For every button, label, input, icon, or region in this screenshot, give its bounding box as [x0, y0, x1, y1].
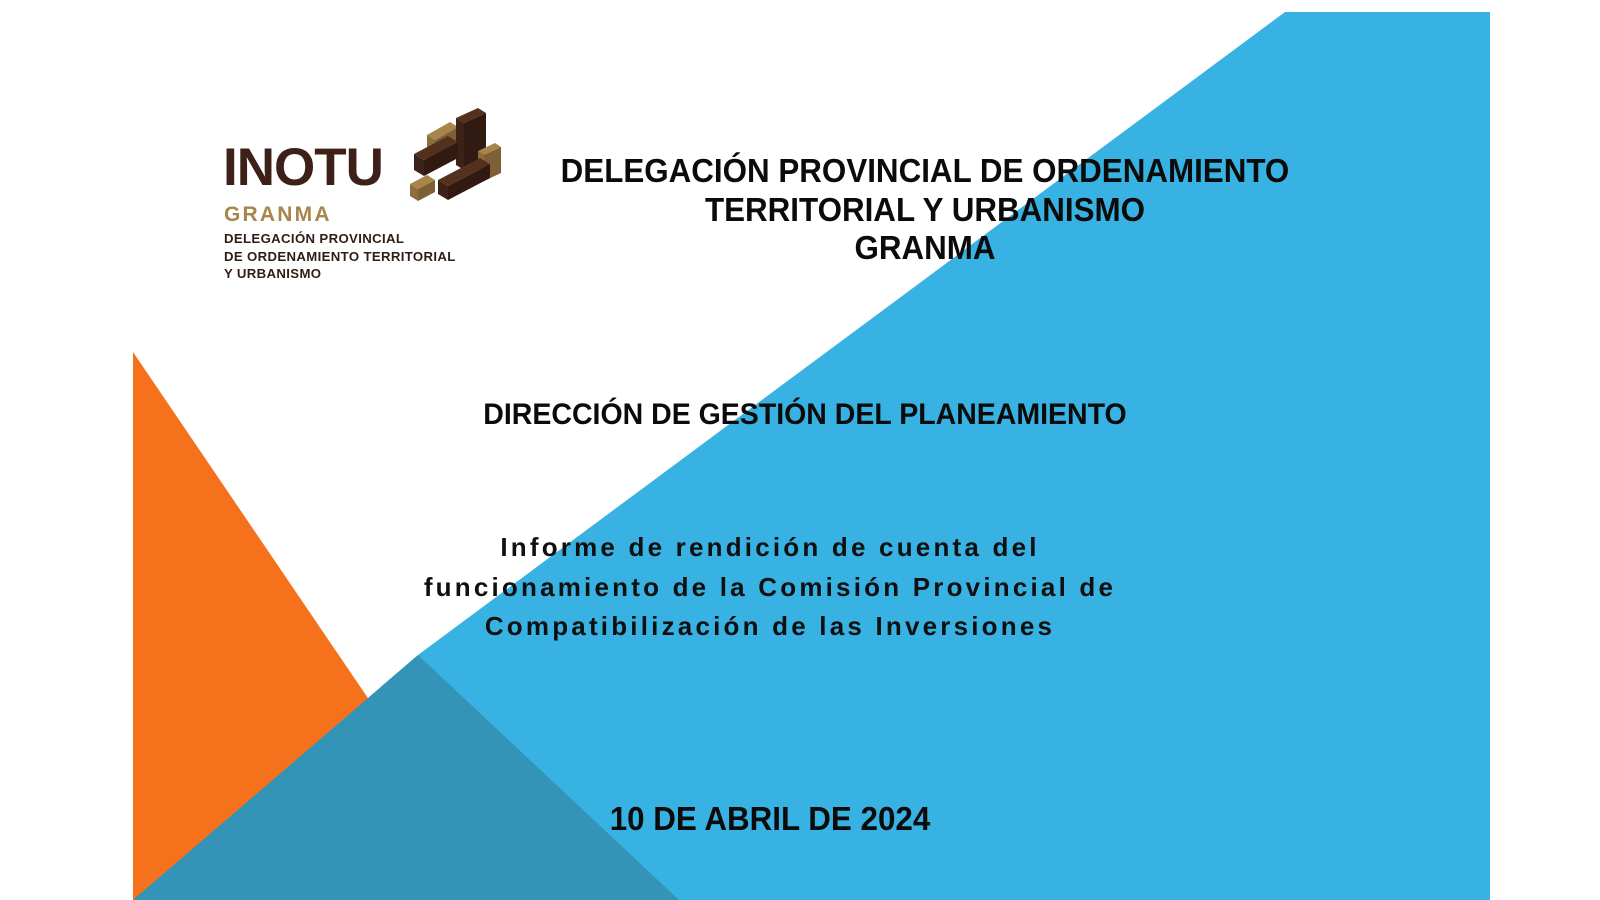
department-title: DIRECCIÓN DE GESTIÓN DEL PLANEAMIENTO: [325, 398, 1285, 432]
logo-province-label: GRANMA: [224, 204, 332, 225]
organization-title: DELEGACIÓN PROVINCIAL DE ORDENAMIENTO TE…: [445, 152, 1405, 268]
report-title-line-1: Informe de rendición de cuenta del: [230, 528, 1310, 568]
logo-subtitle-line-2: DE ORDENAMIENTO TERRITORIAL: [224, 248, 456, 266]
logo-subtitle: DELEGACIÓN PROVINCIAL DE ORDENAMIENTO TE…: [224, 230, 456, 283]
organization-title-line-2: TERRITORIAL Y URBANISMO: [445, 191, 1405, 230]
logo-wordmark: INOTU: [223, 141, 383, 194]
title-slide: INOTU GRANMA: [0, 0, 1600, 900]
report-title-line-3: Compatibilización de las Inversiones: [230, 607, 1310, 647]
logo-subtitle-line-1: DELEGACIÓN PROVINCIAL: [224, 230, 456, 248]
organization-title-line-3: GRANMA: [445, 229, 1405, 268]
presentation-date: 10 DE ABRIL DE 2024: [362, 800, 1179, 838]
logo-subtitle-line-3: Y URBANISMO: [224, 265, 456, 283]
report-title-line-2: funcionamiento de la Comisión Provincial…: [230, 568, 1310, 608]
report-title: Informe de rendición de cuenta del funci…: [230, 528, 1310, 647]
organization-title-line-1: DELEGACIÓN PROVINCIAL DE ORDENAMIENTO: [445, 152, 1405, 191]
